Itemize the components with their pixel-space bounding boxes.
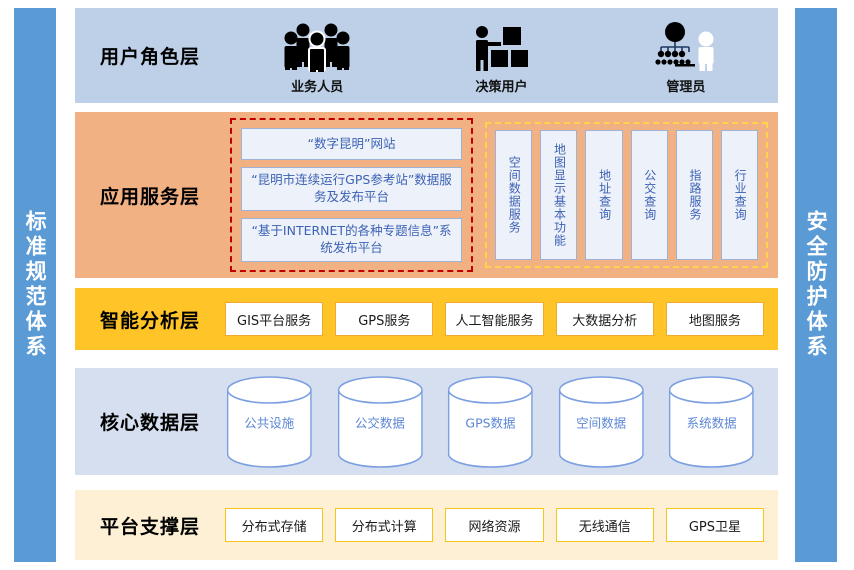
right-pillar-label: 安全防护体系 xyxy=(804,210,828,360)
layer-core-data: 核心数据层 公共设施 公交数据 xyxy=(75,368,778,475)
role-business-staff[interactable]: 业务人员 xyxy=(225,21,409,103)
datastore-gps-data-label: GPS数据 xyxy=(446,412,535,431)
datastore-transit-data-label: 公交数据 xyxy=(336,412,425,431)
platform-item-distributed-storage[interactable]: 分布式存储 xyxy=(225,508,323,542)
datastore-public-facilities-label: 公共设施 xyxy=(225,412,314,431)
architecture-diagram: 标准规范体系 安全防护体系 用户角色层 xyxy=(0,0,854,570)
layer-intelligent-analysis: 智能分析层 GIS平台服务 GPS服务 人工智能服务 大数据分析 地图服务 xyxy=(75,288,778,350)
ai-item-map-service[interactable]: 地图服务 xyxy=(666,302,764,336)
service-box-industry-query[interactable]: 行业查询 xyxy=(721,130,758,260)
layer-core-data-label: 核心数据层 xyxy=(75,408,225,435)
layer-application-service-body: “数字昆明”网站 “昆明市连续运行GPS参考站”数据服务及发布平台 “基于INT… xyxy=(225,112,778,278)
role-decision-user[interactable]: 决策用户 xyxy=(409,21,593,103)
service-box-address-query[interactable]: 地址查询 xyxy=(585,130,622,260)
layer-application-service: 应用服务层 “数字昆明”网站 “昆明市连续运行GPS参考站”数据服务及发布平台 … xyxy=(75,112,778,278)
group-people-icon xyxy=(281,21,353,73)
service-box-transit-query[interactable]: 公交查询 xyxy=(631,130,668,260)
layer-platform-support-label: 平台支撑层 xyxy=(75,512,225,539)
datastore-public-facilities[interactable]: 公共设施 xyxy=(225,376,314,468)
datastore-spatial-data-label: 空间数据 xyxy=(557,412,646,431)
layer-user-role-body: 业务人员 xyxy=(225,8,778,103)
datastore-spatial-data[interactable]: 空间数据 xyxy=(557,376,646,468)
left-pillar-label: 标准规范体系 xyxy=(23,210,47,360)
datastore-gps-data[interactable]: GPS数据 xyxy=(446,376,535,468)
person-with-blocks-icon xyxy=(469,21,533,73)
role-decision-user-label: 决策用户 xyxy=(475,76,527,95)
layer-core-data-body: 公共设施 公交数据 GPS数据 xyxy=(225,368,778,475)
ai-item-big-data-analysis[interactable]: 大数据分析 xyxy=(556,302,654,336)
org-chart-person-icon xyxy=(651,21,721,73)
service-box-route-guidance[interactable]: 指路服务 xyxy=(676,130,713,260)
layer-intelligent-analysis-body: GIS平台服务 GPS服务 人工智能服务 大数据分析 地图服务 xyxy=(225,288,778,350)
app-services-group: 空间数据服务 地图显示基本功能 地址查询 公交查询 指路服务 行业查询 xyxy=(485,122,768,268)
publishing-platforms-group: “数字昆明”网站 “昆明市连续运行GPS参考站”数据服务及发布平台 “基于INT… xyxy=(230,118,473,272)
datastore-system-data[interactable]: 系统数据 xyxy=(667,376,756,468)
platform-box-internet-thematic-info[interactable]: “基于INTERNET的各种专题信息”系统发布平台 xyxy=(241,218,462,262)
platform-item-distributed-computing[interactable]: 分布式计算 xyxy=(335,508,433,542)
ai-item-gis-platform-service[interactable]: GIS平台服务 xyxy=(225,302,323,336)
layer-application-service-label: 应用服务层 xyxy=(75,182,225,209)
platform-box-digital-kunming[interactable]: “数字昆明”网站 xyxy=(241,128,462,160)
platform-item-network-resources[interactable]: 网络资源 xyxy=(445,508,543,542)
role-business-staff-label: 业务人员 xyxy=(291,76,343,95)
platform-box-gps-reference-station[interactable]: “昆明市连续运行GPS参考站”数据服务及发布平台 xyxy=(241,167,462,211)
layer-platform-support-body: 分布式存储 分布式计算 网络资源 无线通信 GPS卫星 xyxy=(225,490,778,560)
layer-intelligent-analysis-label: 智能分析层 xyxy=(75,306,225,333)
role-administrator-label: 管理员 xyxy=(666,76,705,95)
service-box-map-display[interactable]: 地图显示基本功能 xyxy=(540,130,577,260)
layer-user-role-label: 用户角色层 xyxy=(75,42,225,69)
left-pillar-standards: 标准规范体系 xyxy=(14,8,56,562)
platform-item-wireless-communication[interactable]: 无线通信 xyxy=(556,508,654,542)
datastore-transit-data[interactable]: 公交数据 xyxy=(336,376,425,468)
service-box-spatial-data[interactable]: 空间数据服务 xyxy=(495,130,532,260)
role-administrator[interactable]: 管理员 xyxy=(594,21,778,103)
ai-item-ai-service[interactable]: 人工智能服务 xyxy=(445,302,543,336)
layer-platform-support: 平台支撑层 分布式存储 分布式计算 网络资源 无线通信 GPS卫星 xyxy=(75,490,778,560)
ai-item-gps-service[interactable]: GPS服务 xyxy=(335,302,433,336)
datastore-system-data-label: 系统数据 xyxy=(667,412,756,431)
platform-item-gps-satellite[interactable]: GPS卫星 xyxy=(666,508,764,542)
layer-user-role: 用户角色层 xyxy=(75,8,778,103)
right-pillar-security: 安全防护体系 xyxy=(795,8,837,562)
